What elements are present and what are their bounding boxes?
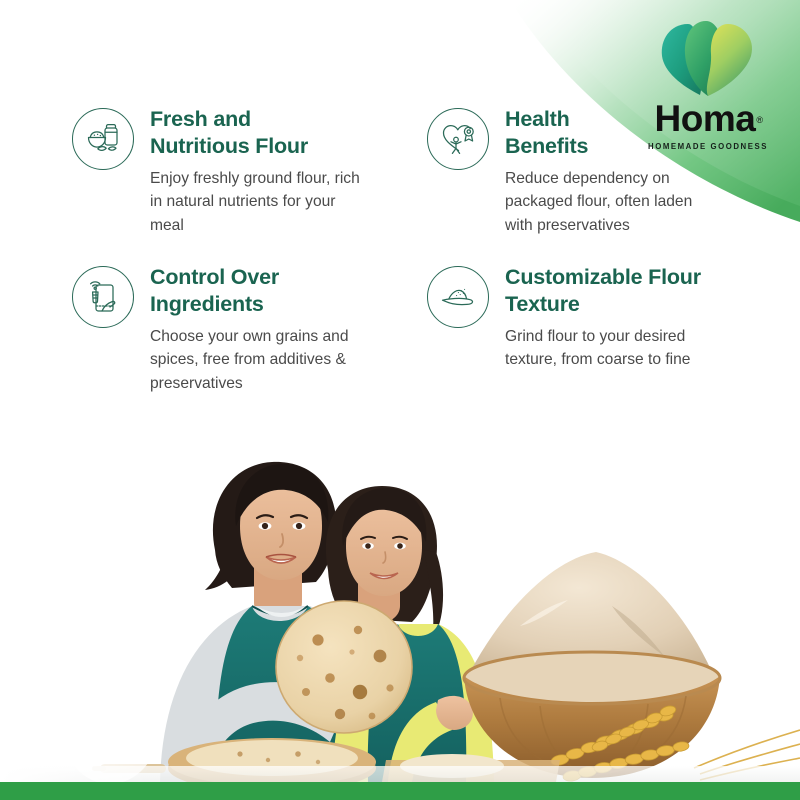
feature-text-block: Fresh and Nutritious Flour Enjoy freshly… <box>150 104 360 238</box>
feature-description: Reduce dependency on packaged flour, oft… <box>505 167 692 238</box>
feature-title: Fresh and Nutritious Flour <box>150 106 360 160</box>
registered-trademark-icon: ® <box>756 115 762 125</box>
logo-tagline: HOMEMADE GOODNESS <box>638 142 778 151</box>
feature-text-block: Control Over Ingredients Choose your own… <box>150 262 349 396</box>
feature-customizable-flour-texture: Customizable Flour Texture Grind flour t… <box>427 262 762 396</box>
feature-description: Choose your own grains and spices, free … <box>150 325 349 396</box>
bottom-green-bar <box>0 782 800 800</box>
feature-fresh-and-nutritious-flour: Fresh and Nutritious Flour Enjoy freshly… <box>72 104 427 238</box>
feature-title: Customizable Flour Texture <box>505 264 701 318</box>
brand-logo: Homa® HOMEMADE GOODNESS <box>638 18 778 151</box>
lifestyle-photo <box>0 430 800 782</box>
logo-wordmark: Homa® <box>655 100 762 137</box>
smartphone-wifi-control-icon <box>72 266 134 328</box>
flour-bowl-jar-icon <box>72 108 134 170</box>
heart-health-award-icon <box>427 108 489 170</box>
feature-description: Enjoy freshly ground flour, rich in natu… <box>150 167 360 238</box>
feature-text-block: Customizable Flour Texture Grind flour t… <box>505 262 701 372</box>
feature-control-over-ingredients: Control Over Ingredients Choose your own… <box>72 262 427 396</box>
feature-title: Control Over Ingredients <box>150 264 349 318</box>
round-chapati-roti <box>276 601 412 733</box>
logo-word-text: Homa <box>655 98 756 139</box>
poster-canvas: Homa® HOMEMADE GOODNESS <box>0 0 800 800</box>
feature-description: Grind flour to your desired texture, fro… <box>505 325 701 372</box>
hand-flour-texture-icon <box>427 266 489 328</box>
heart-leaf-logo-icon <box>654 18 762 98</box>
